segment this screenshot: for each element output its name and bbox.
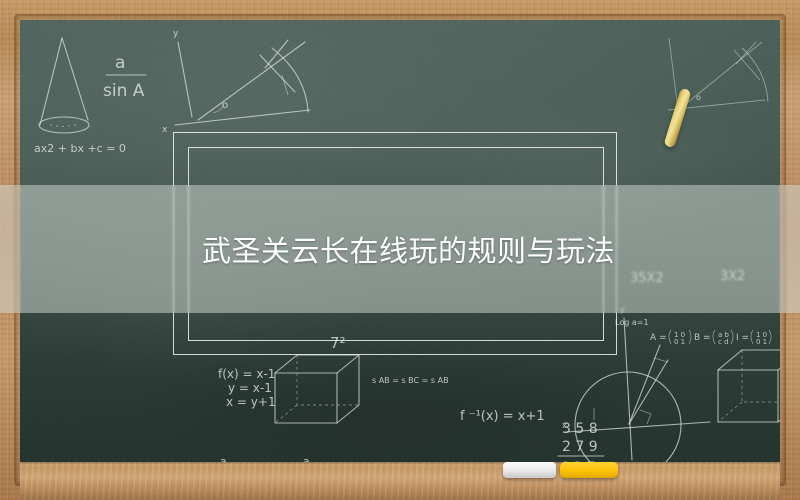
svg-text:A =: A =: [650, 333, 667, 343]
chalk-law-of-sines: a sin A: [103, 53, 146, 101]
svg-text:2 7 9: 2 7 9: [562, 439, 598, 455]
chalk-inverse-function: f ⁻¹(x) = x+1: [460, 409, 545, 424]
svg-text:x: x: [162, 125, 168, 135]
svg-text:B =: B =: [694, 333, 711, 343]
ledge-wood-grain: [20, 462, 780, 500]
svg-text:a: a: [220, 455, 227, 462]
svg-text:x: x: [562, 421, 567, 430]
chalk-ledge: [20, 462, 780, 500]
svg-text:a: a: [303, 455, 310, 462]
svg-text:c d: c d: [718, 338, 729, 346]
svg-text:a b: a b: [718, 331, 730, 339]
svg-text:1 0: 1 0: [756, 331, 767, 339]
svg-text:y = x-1: y = x-1: [228, 381, 272, 395]
eraser-icon: [503, 462, 556, 478]
svg-text:3 5 8: 3 5 8: [562, 421, 598, 437]
chalk-cube-left: [275, 355, 359, 423]
chalk-function-lines: f(x) = x-1 y = x-1 x = y+1: [218, 367, 276, 409]
chalk-cone-icon: [39, 38, 89, 133]
chalk-law-of-sines-2: a sin A: [212, 455, 242, 462]
chalk-law-of-sines-3: a sin A: [295, 455, 325, 462]
chalk-ab-relation: s AB = s BC = s AB: [372, 376, 449, 385]
svg-text:sin A: sin A: [103, 81, 145, 101]
svg-text:0 1: 0 1: [674, 338, 685, 346]
svg-text:y: y: [173, 29, 179, 39]
chalk-quadratic-formula: ax2 + bx +c = 0: [34, 142, 126, 155]
chalk-addition-column: 3 5 8 2 7 9 6 3 7: [558, 408, 604, 462]
svg-text:I =: I =: [736, 333, 749, 343]
page-title: 武圣关云长在线玩的规则与玩法: [0, 185, 800, 313]
svg-text:f(x) = x-1: f(x) = x-1: [218, 367, 275, 381]
chalk-matrix-row: A = 1 0 0 1 B = a b c d I = 1 0 0 1: [650, 330, 771, 346]
chalkboard-banner: a sin A y x o: [0, 0, 800, 500]
yellow-chalk-icon: [560, 462, 618, 478]
chalk-cube-right: [718, 350, 780, 422]
chalk-log-a: Log a=1: [615, 318, 649, 327]
svg-text:x = y+1: x = y+1: [226, 395, 276, 409]
svg-text:o: o: [222, 100, 228, 111]
svg-text:o: o: [696, 93, 701, 102]
svg-text:0 1: 0 1: [756, 338, 767, 346]
svg-text:1 0: 1 0: [674, 331, 685, 339]
chalk-axes-angle: y x o: [162, 29, 310, 135]
svg-text:a: a: [115, 53, 125, 73]
